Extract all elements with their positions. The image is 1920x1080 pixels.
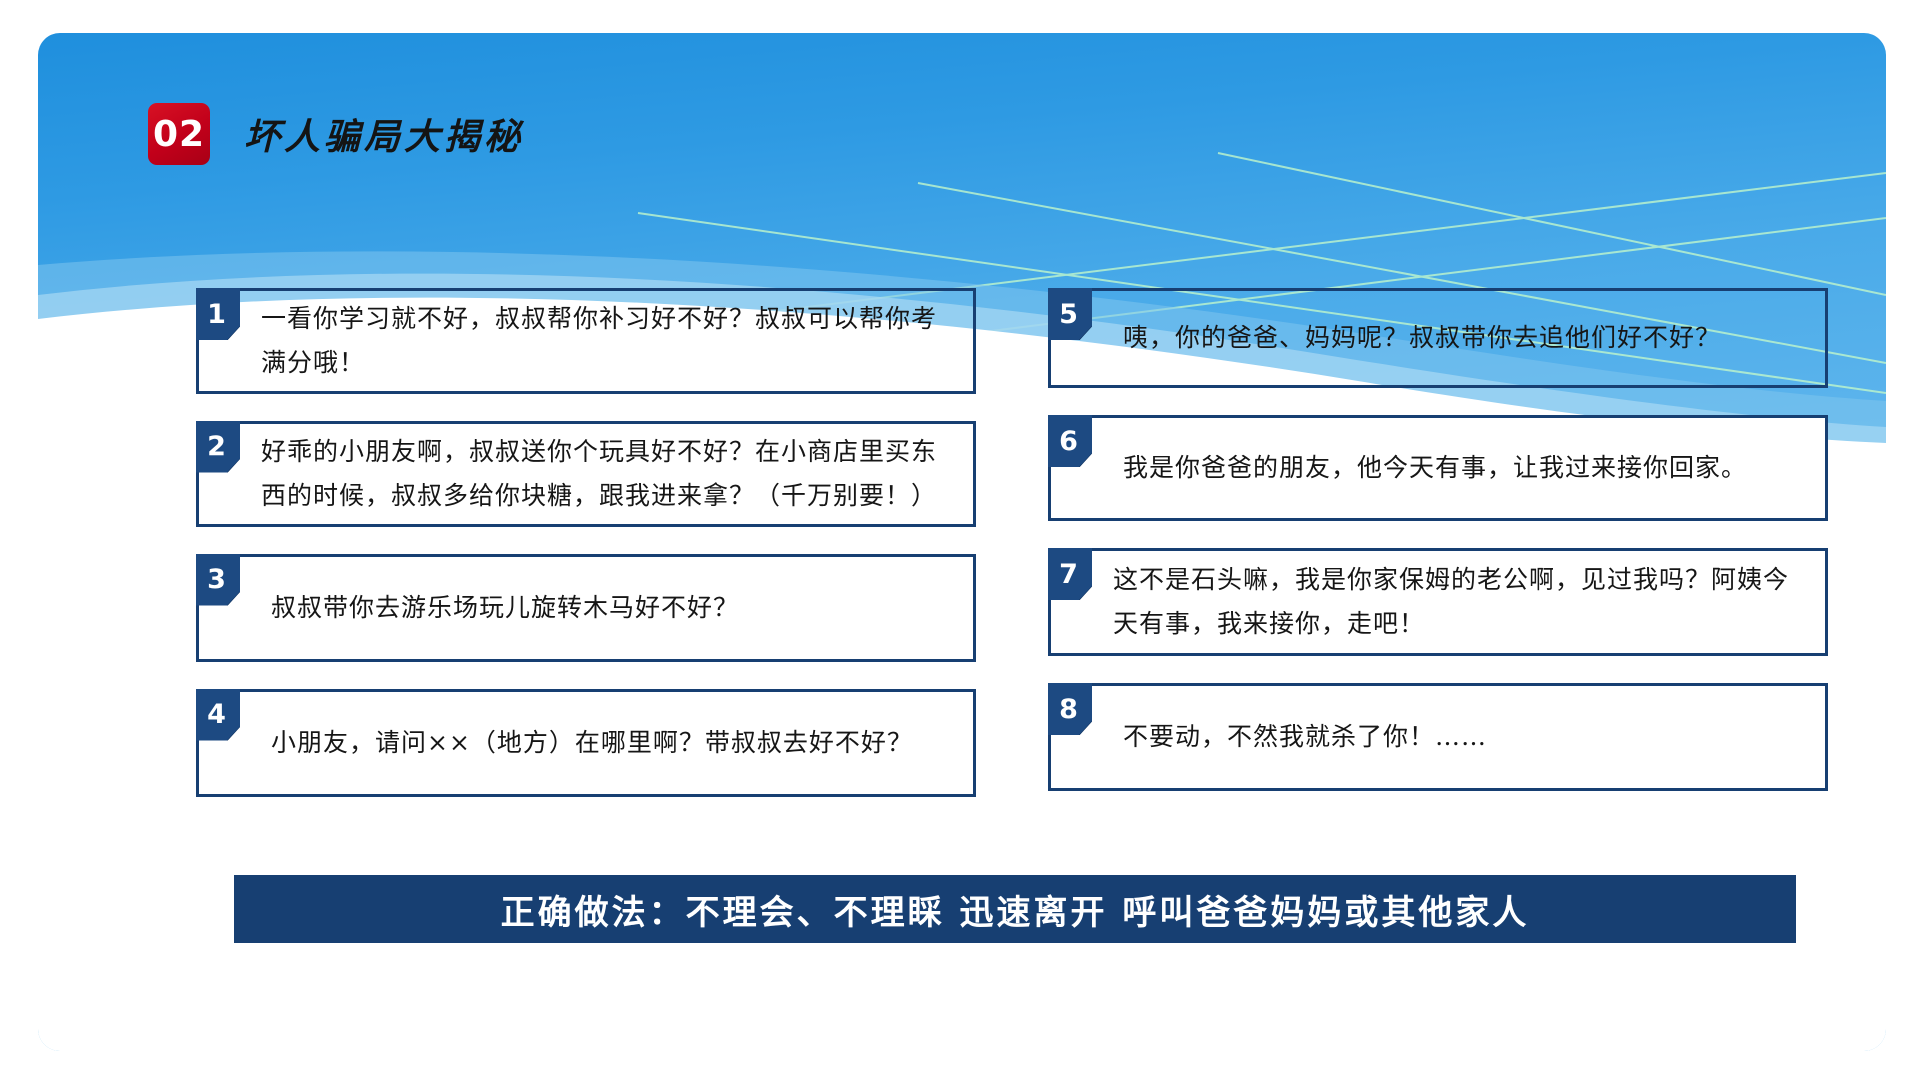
section-number-badge: 02	[148, 103, 210, 165]
right-card-column: 5 咦，你的爸爸、妈妈呢？叔叔带你去追他们好不好？ 6 我是你爸爸的朋友，他今天…	[1048, 288, 1828, 818]
left-card-column: 1 一看你学习就不好，叔叔帮你补习好不好？叔叔可以帮你考满分哦！ 2 好乖的小朋…	[196, 288, 976, 824]
advice-banner: 正确做法：不理会、不理睬 迅速离开 呼叫爸爸妈妈或其他家人	[234, 875, 1796, 943]
card-text: 叔叔带你去游乐场玩儿旋转木马好不好？	[199, 586, 973, 630]
scam-card-7[interactable]: 7 这不是石头嘛，我是你家保姆的老公啊，见过我吗？阿姨今天有事，我来接你，走吧！	[1048, 548, 1828, 656]
slide-root: 02 坏人骗局大揭秘 1 一看你学习就不好，叔叔帮你补习好不好？叔叔可以帮你考满…	[0, 0, 1920, 1080]
card-text: 我是你爸爸的朋友，他今天有事，让我过来接你回家。	[1051, 446, 1825, 490]
scam-card-1[interactable]: 1 一看你学习就不好，叔叔帮你补习好不好？叔叔可以帮你考满分哦！	[196, 288, 976, 394]
scam-card-8[interactable]: 8 不要动，不然我就杀了你！……	[1048, 683, 1828, 791]
scam-card-2[interactable]: 2 好乖的小朋友啊，叔叔送你个玩具好不好？在小商店里买东西的时候，叔叔多给你块糖…	[196, 421, 976, 527]
card-number-badge: 6	[1048, 415, 1092, 467]
card-text: 一看你学习就不好，叔叔帮你补习好不好？叔叔可以帮你考满分哦！	[199, 291, 973, 391]
scam-card-4[interactable]: 4 小朋友，请问××（地方）在哪里啊？带叔叔去好不好？	[196, 689, 976, 797]
background-blue-panel: 02 坏人骗局大揭秘 1 一看你学习就不好，叔叔帮你补习好不好？叔叔可以帮你考满…	[38, 33, 1886, 1051]
card-number-badge: 7	[1048, 548, 1092, 600]
advice-banner-text: 正确做法：不理会、不理睬 迅速离开 呼叫爸爸妈妈或其他家人	[501, 885, 1530, 934]
slide-header: 02 坏人骗局大揭秘	[148, 103, 524, 165]
card-number-badge: 2	[196, 421, 240, 473]
scam-card-6[interactable]: 6 我是你爸爸的朋友，他今天有事，让我过来接你回家。	[1048, 415, 1828, 521]
card-text: 小朋友，请问××（地方）在哪里啊？带叔叔去好不好？	[199, 721, 973, 765]
card-number-badge: 3	[196, 554, 240, 606]
card-text: 不要动，不然我就杀了你！……	[1051, 715, 1825, 759]
card-text: 这不是石头嘛，我是你家保姆的老公啊，见过我吗？阿姨今天有事，我来接你，走吧！	[1051, 552, 1825, 652]
card-number-badge: 8	[1048, 683, 1092, 735]
card-number-badge: 4	[196, 689, 240, 741]
scam-card-3[interactable]: 3 叔叔带你去游乐场玩儿旋转木马好不好？	[196, 554, 976, 662]
card-number-badge: 1	[196, 288, 240, 340]
card-text: 好乖的小朋友啊，叔叔送你个玩具好不好？在小商店里买东西的时候，叔叔多给你块糖，跟…	[199, 424, 973, 524]
scam-card-5[interactable]: 5 咦，你的爸爸、妈妈呢？叔叔带你去追他们好不好？	[1048, 288, 1828, 388]
card-text: 咦，你的爸爸、妈妈呢？叔叔带你去追他们好不好？	[1051, 316, 1825, 360]
page-title: 坏人骗局大揭秘	[244, 108, 524, 160]
card-number-badge: 5	[1048, 288, 1092, 340]
